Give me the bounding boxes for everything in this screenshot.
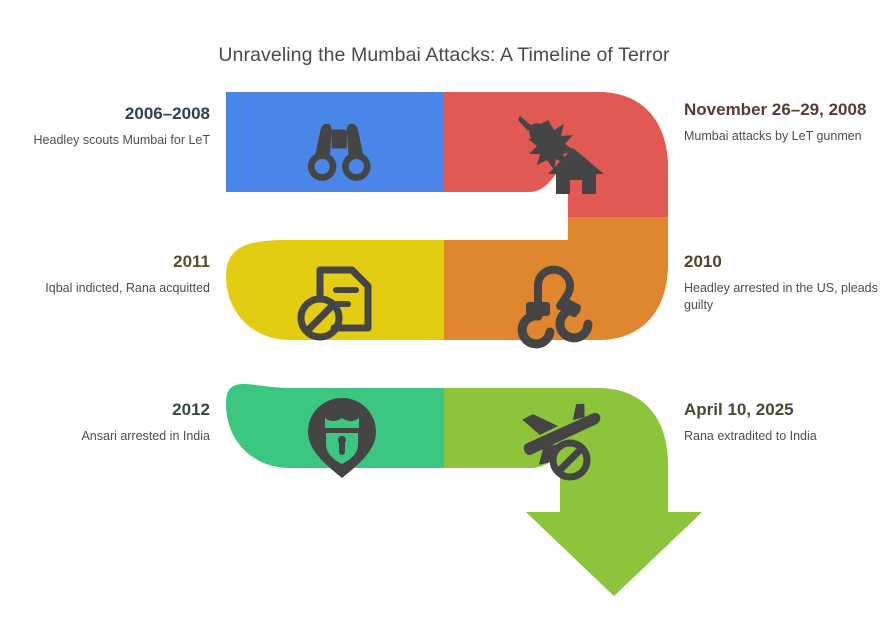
event-date-arrest-us: 2010 bbox=[684, 252, 880, 273]
event-description-indictment: Iqbal indicted, Rana acquitted bbox=[14, 280, 210, 298]
event-label-extradition: April 10, 2025 Rana extradited to India bbox=[684, 400, 880, 445]
segment-indictment-shape bbox=[226, 240, 444, 340]
segment-extradition-shape bbox=[444, 388, 702, 596]
event-date-attacks: November 26–29, 2008 bbox=[684, 100, 880, 121]
event-date-scouting: 2006–2008 bbox=[14, 104, 210, 125]
timeline-infographic: Unraveling the Mumbai Attacks: A Timelin… bbox=[0, 0, 888, 644]
event-label-arrest-us: 2010 Headley arrested in the US, pleads … bbox=[684, 252, 880, 315]
ribbon-svg bbox=[0, 0, 888, 644]
handcuffs-icon bbox=[522, 270, 588, 344]
event-date-indictment: 2011 bbox=[14, 252, 210, 273]
police-badge-pin-icon bbox=[308, 398, 376, 478]
event-label-attacks: November 26–29, 2008 Mumbai attacks by L… bbox=[684, 100, 880, 145]
segment-scouting-shape bbox=[226, 92, 444, 192]
plane-blocked-icon bbox=[514, 395, 608, 478]
u-turn-upper-shape bbox=[560, 92, 668, 217]
event-description-arrest-india: Ansari arrested in India bbox=[14, 428, 210, 446]
house-explosion-icon bbox=[518, 116, 604, 194]
event-description-arrest-us: Headley arrested in the US, pleads guilt… bbox=[684, 280, 880, 316]
event-description-scouting: Headley scouts Mumbai for LeT bbox=[14, 132, 210, 150]
segment-arrest-india-shape bbox=[226, 384, 444, 468]
event-date-arrest-india: 2012 bbox=[14, 400, 210, 421]
arrow-head-icon bbox=[526, 512, 702, 596]
page-title: Unraveling the Mumbai Attacks: A Timelin… bbox=[0, 44, 888, 67]
segment-attacks-shape bbox=[444, 92, 668, 217]
document-blocked-icon bbox=[301, 270, 368, 337]
event-date-extradition: April 10, 2025 bbox=[684, 400, 880, 421]
binoculars-icon bbox=[308, 124, 371, 181]
timeline-ribbon bbox=[0, 0, 888, 644]
event-description-extradition: Rana extradited to India bbox=[684, 428, 880, 446]
segment-arrest-us-shape bbox=[444, 217, 668, 340]
event-label-indictment: 2011 Iqbal indicted, Rana acquitted bbox=[14, 252, 210, 297]
event-description-attacks: Mumbai attacks by LeT gunmen bbox=[684, 128, 880, 146]
event-label-arrest-india: 2012 Ansari arrested in India bbox=[14, 400, 210, 445]
event-label-scouting: 2006–2008 Headley scouts Mumbai for LeT bbox=[14, 104, 210, 149]
